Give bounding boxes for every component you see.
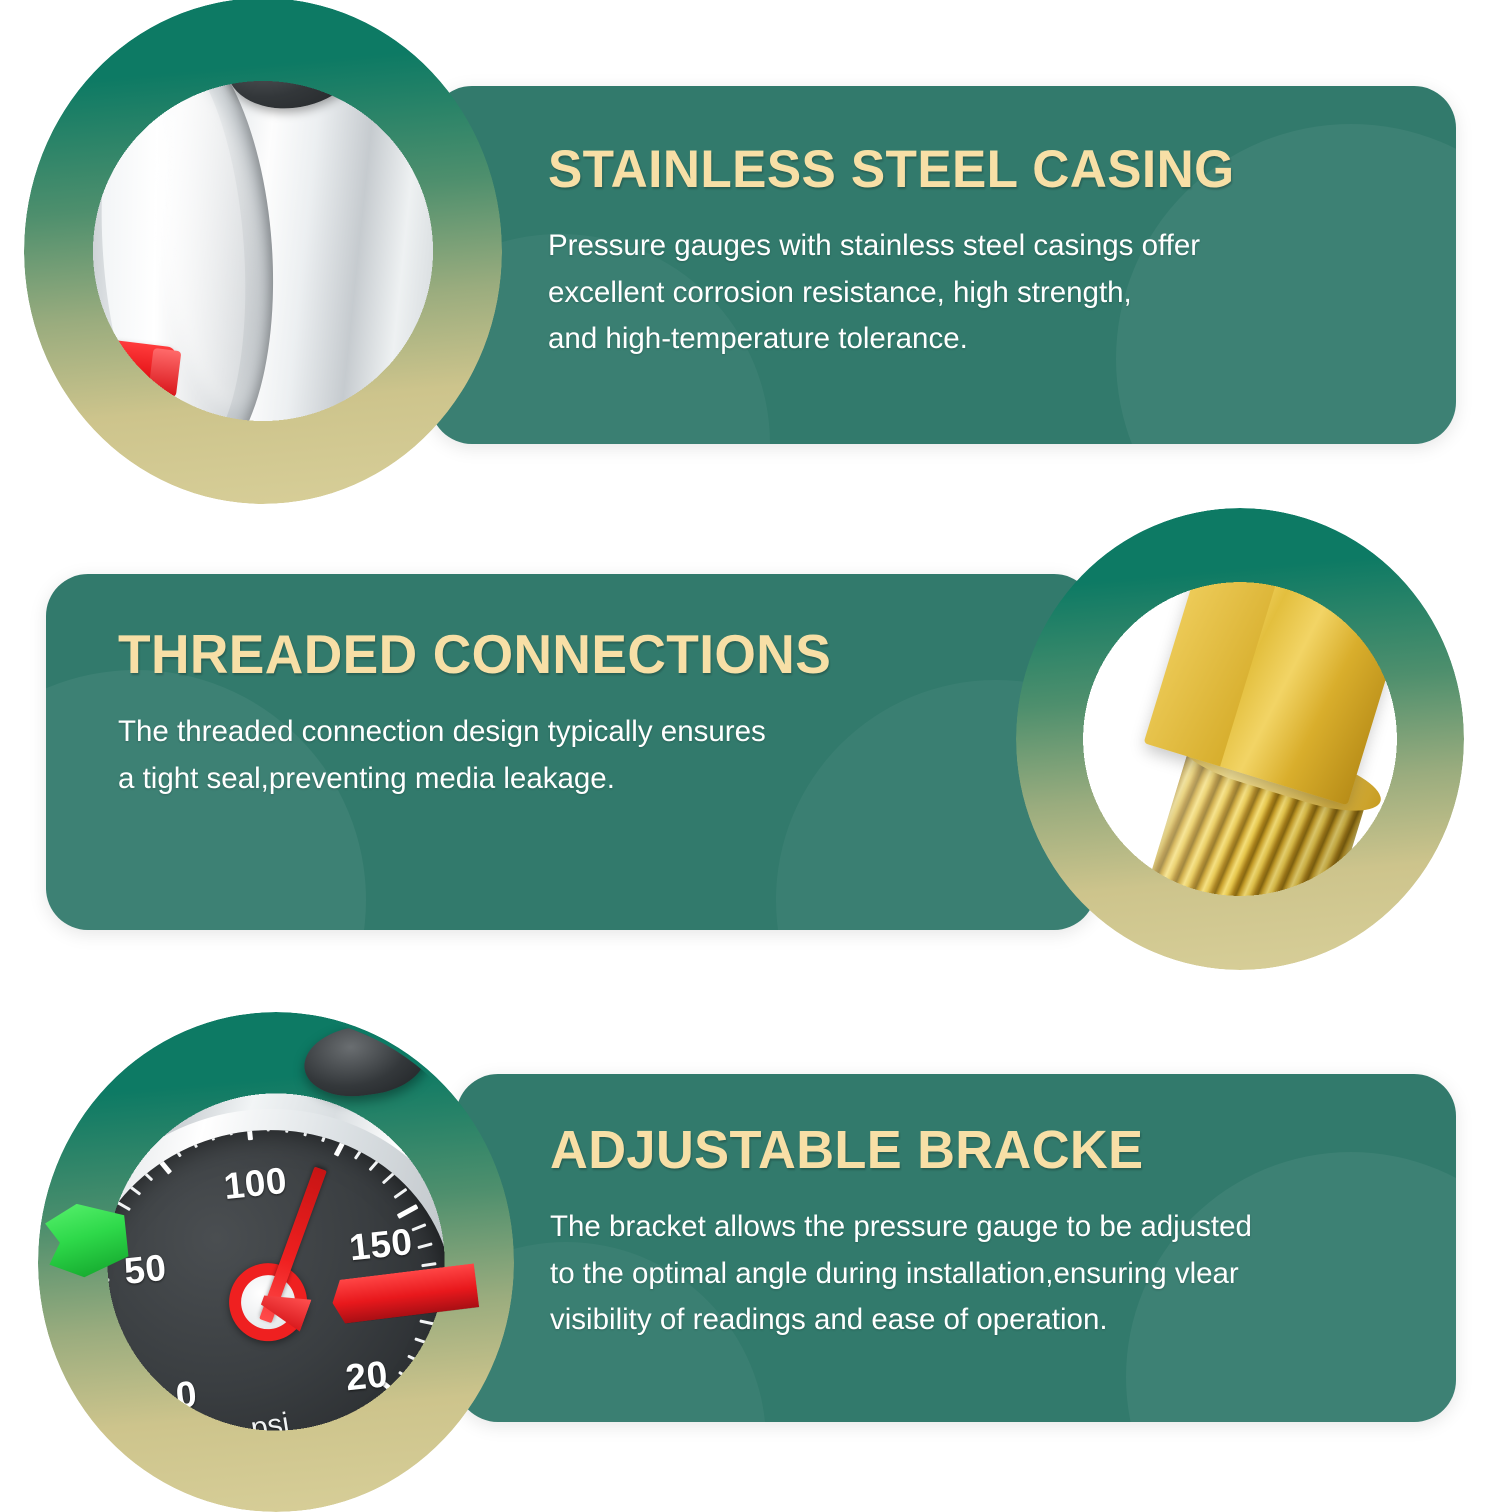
description-line: and high-temperature tolerance. bbox=[548, 316, 1416, 363]
feature-description: Pressure gauges with stainless steel cas… bbox=[548, 223, 1416, 363]
description-line: The bracket allows the pressure gauge to… bbox=[550, 1204, 1416, 1251]
description-line: The threaded connection design typically… bbox=[118, 709, 998, 756]
infographic-canvas: STAINLESS STEEL CASING Pressure gauges w… bbox=[0, 0, 1500, 1500]
stainless-steel-casing-photo bbox=[24, 0, 502, 504]
description-line: visibility of readings and ease of opera… bbox=[550, 1297, 1416, 1344]
feature-text-block: STAINLESS STEEL CASING Pressure gauges w… bbox=[548, 142, 1416, 363]
adjustable-bracket-gauge-photo: psi 05010015020 bbox=[38, 1012, 514, 1512]
feature-title: ADJUSTABLE BRACKE bbox=[550, 1122, 1390, 1178]
feature-text-block: ADJUSTABLE BRACKE The bracket allows the… bbox=[550, 1122, 1416, 1344]
brass-threaded-fitting-photo bbox=[1016, 508, 1464, 970]
feature-description: The threaded connection design typically… bbox=[118, 709, 998, 802]
feature-panel-stainless-steel-casing: STAINLESS STEEL CASING Pressure gauges w… bbox=[430, 86, 1456, 444]
description-line: excellent corrosion resistance, high str… bbox=[548, 270, 1416, 317]
feature-panel-threaded-connections: THREADED CONNECTIONS The threaded connec… bbox=[46, 574, 1096, 930]
feature-panel-adjustable-bracket: ADJUSTABLE BRACKE The bracket allows the… bbox=[456, 1074, 1456, 1422]
feature-title: STAINLESS STEEL CASING bbox=[548, 142, 1390, 197]
description-line: a tight seal,preventing media leakage. bbox=[118, 756, 998, 803]
photo-ring-border bbox=[1016, 508, 1464, 970]
feature-description: The bracket allows the pressure gauge to… bbox=[550, 1204, 1416, 1344]
description-line: to the optimal angle during installation… bbox=[550, 1251, 1416, 1298]
feature-title: THREADED CONNECTIONS bbox=[118, 626, 1028, 683]
photo-ring-border bbox=[24, 0, 502, 504]
description-line: Pressure gauges with stainless steel cas… bbox=[548, 223, 1416, 270]
feature-text-block: THREADED CONNECTIONS The threaded connec… bbox=[118, 626, 1056, 802]
